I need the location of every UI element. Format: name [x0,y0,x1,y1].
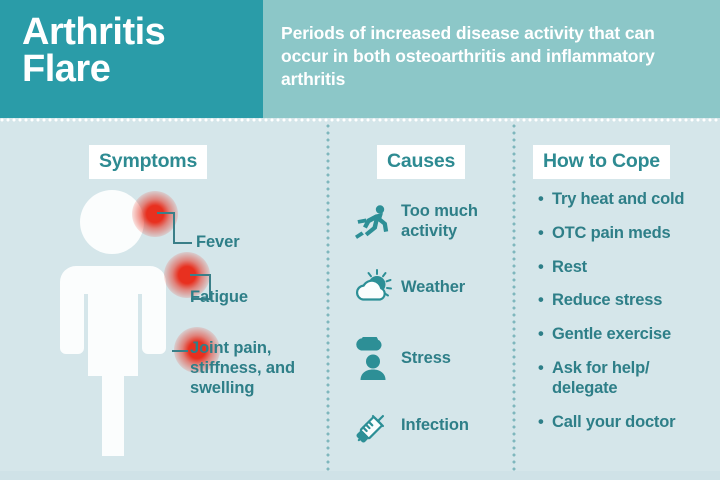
cause-label-stress: Stress [401,349,451,369]
cope-heading: How to Cope [533,145,670,179]
cope-list-item: Gentle exercise [538,325,718,345]
syringe-icon [345,405,401,447]
cope-list-item: Reduce stress [538,291,718,311]
page-subtitle: Periods of increased disease activity th… [281,22,701,91]
symptom-label-fever: Fever [196,232,240,252]
page-title: Arthritis Flare [22,14,262,88]
cause-label-too-much-activity: Too much activity [401,202,510,242]
symptoms-heading: Symptoms [89,145,207,179]
symptom-label-fatigue: Fatigue [190,287,248,307]
cause-row-weather: Weather [345,262,510,314]
causes-heading: Causes [377,145,465,179]
header-banner: Arthritis Flare Periods of increased dis… [0,0,720,118]
cope-list: Try heat and cold OTC pain meds Rest Red… [538,190,718,446]
page-title-line2: Flare [22,51,262,88]
cope-list-item: Ask for help/ delegate [538,359,718,399]
symptom-label-joint-pain: Joint pain, stiffness, and swelling [190,338,325,398]
column-divider-symptoms-causes [326,124,330,472]
header-dotted-divider [0,118,720,122]
hotspot-head [132,191,178,237]
cope-list-item: OTC pain meds [538,224,718,244]
column-divider-causes-cope [512,124,516,472]
cope-list-item: Call your doctor [538,413,718,433]
cope-list-item: Rest [538,258,718,278]
cause-row-infection: Infection [345,398,510,454]
cause-label-weather: Weather [401,278,465,298]
person-under-cloud-icon [345,337,401,381]
arthritis-flare-infographic: Arthritis Flare Periods of increased dis… [0,0,720,480]
cause-row-too-much-activity: Too much activity [345,192,510,252]
page-title-line1: Arthritis [22,14,262,51]
cope-list-item: Try heat and cold [538,190,718,210]
running-person-icon [345,202,401,242]
sun-behind-cloud-icon [345,269,401,307]
cause-row-stress: Stress [345,330,510,388]
cause-label-infection: Infection [401,416,469,436]
human-body-icon [44,190,224,456]
bottom-edge [0,471,720,480]
